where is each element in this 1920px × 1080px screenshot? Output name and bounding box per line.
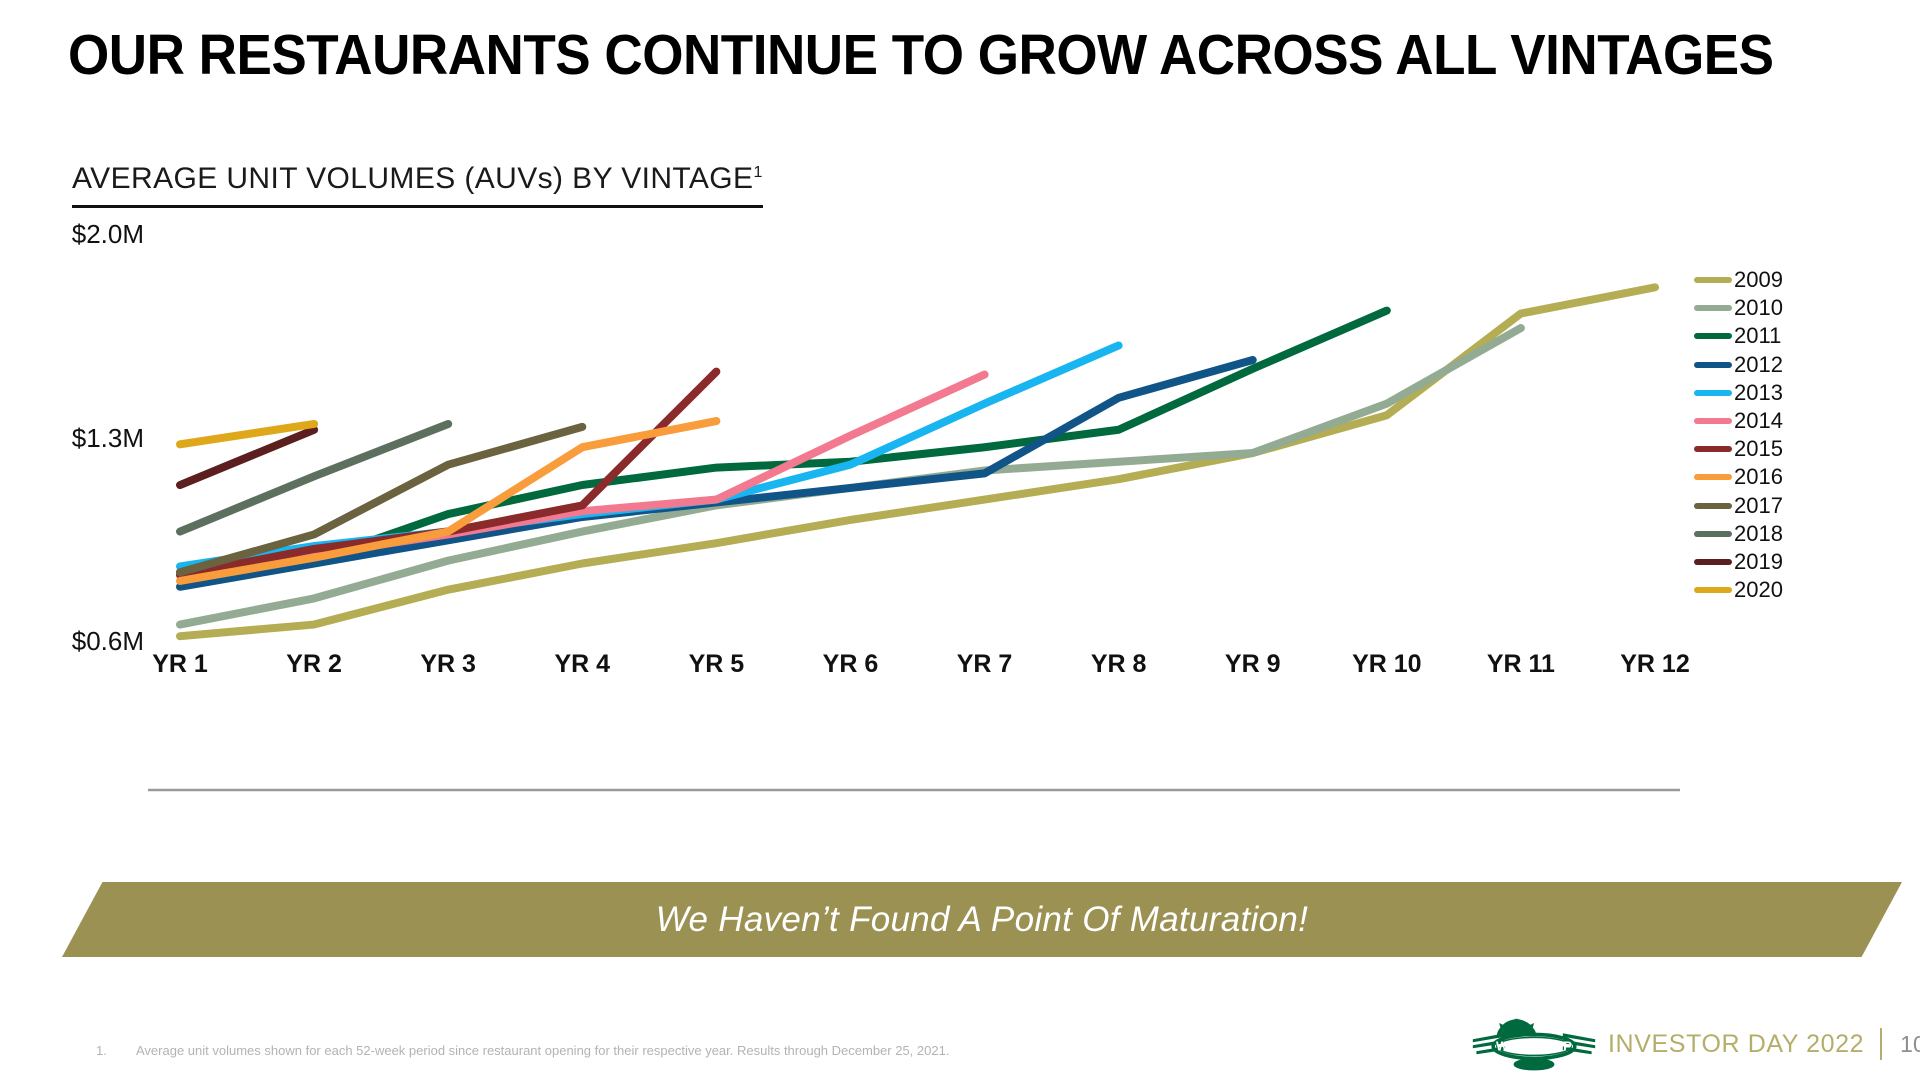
legend-item-label: 2019 xyxy=(1734,551,1783,573)
legend-swatch-icon xyxy=(1694,333,1732,339)
highlight-banner-text: We Haven’t Found A Point Of Maturation! xyxy=(656,900,1308,940)
legend-swatch-icon xyxy=(1694,503,1732,509)
chart-subtitle-text: AVERAGE UNIT VOLUMES (AUVs) BY VINTAGE1 xyxy=(72,162,763,196)
x-axis-tick-label: YR 4 xyxy=(554,650,610,679)
wingstop-logo-text: WING·STOP xyxy=(1496,1039,1572,1054)
legend-item-label: 2010 xyxy=(1734,297,1783,319)
legend-item-label: 2016 xyxy=(1734,466,1783,488)
legend-item-label: 2014 xyxy=(1734,410,1783,432)
chart-line-2014 xyxy=(180,375,985,573)
legend-swatch-icon xyxy=(1694,446,1732,452)
legend-swatch-icon xyxy=(1694,277,1732,283)
page-title: OUR RESTAURANTS CONTINUE TO GROW ACROSS … xyxy=(68,22,1774,88)
legend-item-2012[interactable]: 2012 xyxy=(1694,351,1904,379)
x-axis-tick-label: YR 3 xyxy=(420,650,476,679)
chart-legend: 2009201020112012201320142015201620172018… xyxy=(1694,266,1904,604)
chart-series-group xyxy=(180,287,1655,636)
legend-item-2018[interactable]: 2018 xyxy=(1694,520,1904,548)
legend-item-label: 2013 xyxy=(1734,382,1783,404)
legend-swatch-icon xyxy=(1694,559,1732,565)
footnote-text: Average unit volumes shown for each 52-w… xyxy=(136,1043,949,1058)
legend-item-2017[interactable]: 2017 xyxy=(1694,492,1904,520)
footnote-number: 1. xyxy=(96,1043,136,1058)
chart-line-2009 xyxy=(180,287,1655,636)
legend-item-2009[interactable]: 2009 xyxy=(1694,266,1904,294)
x-axis-tick-label: YR 6 xyxy=(823,650,879,679)
x-axis-tick-label: YR 11 xyxy=(1487,650,1555,679)
page-number: 10 xyxy=(1900,1031,1920,1058)
legend-swatch-icon xyxy=(1694,587,1732,593)
legend-item-2016[interactable]: 2016 xyxy=(1694,463,1904,491)
x-axis-tick-label: YR 9 xyxy=(1225,650,1281,679)
legend-item-2019[interactable]: 2019 xyxy=(1694,548,1904,576)
legend-swatch-icon xyxy=(1694,305,1732,311)
x-axis-tick-label: YR 7 xyxy=(957,650,1013,679)
x-axis-tick-label: YR 8 xyxy=(1091,650,1147,679)
chart-line-2015 xyxy=(180,372,716,576)
chart-plot-area xyxy=(0,200,1920,840)
line-chart: $2.0M $1.3M $0.6M YR 1YR 2YR 3YR 4YR 5YR… xyxy=(0,200,1920,840)
legend-item-label: 2012 xyxy=(1734,354,1783,376)
x-axis-tick-label: YR 2 xyxy=(286,650,342,679)
legend-swatch-icon xyxy=(1694,474,1732,480)
legend-item-label: 2018 xyxy=(1734,523,1783,545)
x-axis-tick-label: YR 12 xyxy=(1620,650,1689,679)
legend-item-2020[interactable]: 2020 xyxy=(1694,576,1904,604)
legend-swatch-icon xyxy=(1694,418,1732,424)
x-axis-tick-label: YR 5 xyxy=(689,650,745,679)
legend-item-label: 2009 xyxy=(1734,269,1783,291)
chart-subtitle-label: AVERAGE UNIT VOLUMES (AUVs) BY VINTAGE xyxy=(72,162,753,195)
legend-item-label: 2011 xyxy=(1734,325,1781,347)
slide: OUR RESTAURANTS CONTINUE TO GROW ACROSS … xyxy=(0,0,1920,1080)
footer-brand: WING·STOP INVESTOR DAY 2022 10 xyxy=(1468,1014,1920,1074)
wingstop-logo-icon: WING·STOP xyxy=(1468,1015,1600,1073)
legend-swatch-icon xyxy=(1694,362,1732,368)
legend-swatch-icon xyxy=(1694,531,1732,537)
legend-item-2014[interactable]: 2014 xyxy=(1694,407,1904,435)
footer-divider xyxy=(1880,1028,1882,1060)
legend-item-label: 2020 xyxy=(1734,579,1783,601)
legend-item-2013[interactable]: 2013 xyxy=(1694,379,1904,407)
legend-swatch-icon xyxy=(1694,390,1732,396)
legend-item-2011[interactable]: 2011 xyxy=(1694,322,1904,350)
legend-item-label: 2017 xyxy=(1734,495,1783,517)
highlight-banner: We Haven’t Found A Point Of Maturation! xyxy=(62,882,1902,957)
chart-line-2010 xyxy=(180,328,1521,625)
footnote-marker: 1 xyxy=(753,164,762,181)
legend-item-label: 2015 xyxy=(1734,438,1783,460)
legend-item-2015[interactable]: 2015 xyxy=(1694,435,1904,463)
legend-item-2010[interactable]: 2010 xyxy=(1694,294,1904,322)
x-axis-tick-label: YR 1 xyxy=(152,650,208,679)
footnote: 1. Average unit volumes shown for each 5… xyxy=(96,1043,949,1058)
x-axis-tick-label: YR 10 xyxy=(1352,650,1421,679)
footer-event-label: INVESTOR DAY 2022 xyxy=(1608,1030,1864,1059)
